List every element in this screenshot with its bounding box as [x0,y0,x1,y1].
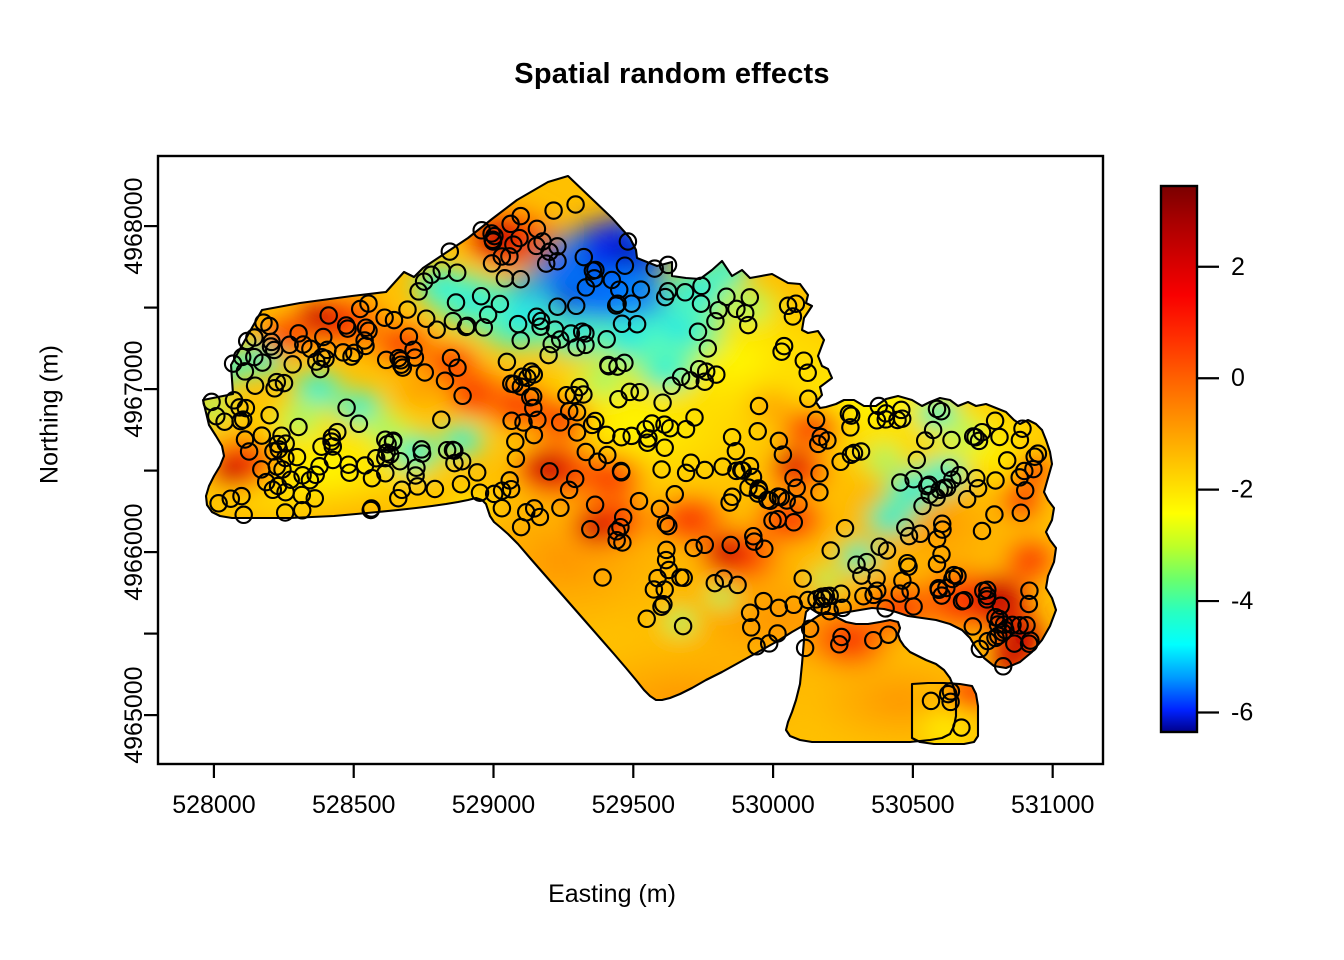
x-tick-label: 528000 [172,791,255,819]
colorbar-tick-label: -2 [1231,476,1253,504]
colorbar-ticks [1197,267,1219,713]
colorbar-tick-label: 2 [1231,253,1245,281]
y-tick-label: 4965000 [120,666,148,763]
plot-svg: 5280005285005290005295005300005305005310… [0,0,1344,960]
x-tick-label: 530000 [731,791,814,819]
y-axis-ticks [144,226,158,715]
y-axis-tick-labels: 4965000496600049670004968000 [120,177,148,763]
y-tick-label: 4967000 [120,340,148,437]
colorbar-tick-label: 0 [1231,364,1245,392]
x-tick-label: 528500 [312,791,395,819]
x-tick-label: 530500 [871,791,954,819]
x-tick-label: 531000 [1011,791,1094,819]
x-tick-label: 529500 [592,791,675,819]
colorbar-tick-label: -6 [1231,699,1253,727]
y-tick-label: 4966000 [120,503,148,600]
x-axis-ticks [214,764,1053,778]
colorbar-tick-labels: 20-2-4-6 [1231,253,1253,727]
y-tick-label: 4968000 [120,177,148,274]
x-tick-label: 529000 [452,791,535,819]
colorbar-gradient [1161,186,1197,732]
x-axis-tick-labels: 5280005285005290005295005300005305005310… [172,791,1094,819]
colorbar [1161,186,1197,732]
figure-canvas: Spatial random effects Easting (m) North… [0,0,1344,960]
colorbar-tick-label: -4 [1231,587,1253,615]
